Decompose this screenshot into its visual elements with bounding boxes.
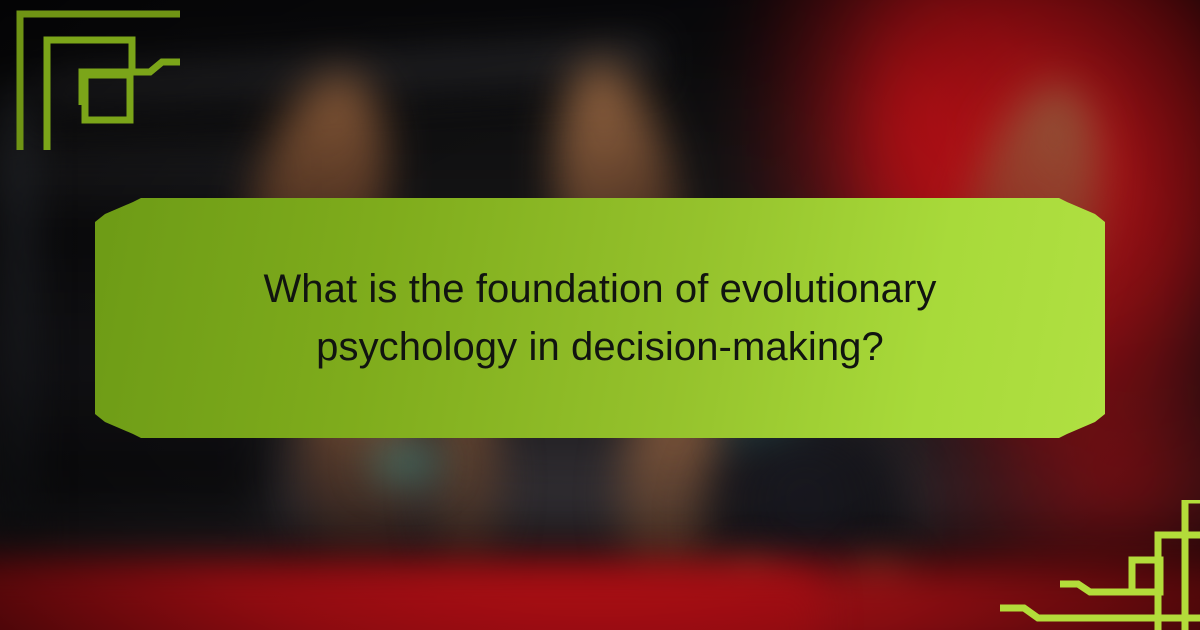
question-text: What is the foundation of evolutionary p… <box>220 260 980 376</box>
corner-bracket-top-left-icon <box>0 0 180 150</box>
question-card: What is the foundation of evolutionary p… <box>0 0 1200 630</box>
corner-bracket-bottom-right-icon <box>1000 500 1200 630</box>
question-banner: What is the foundation of evolutionary p… <box>95 198 1105 438</box>
